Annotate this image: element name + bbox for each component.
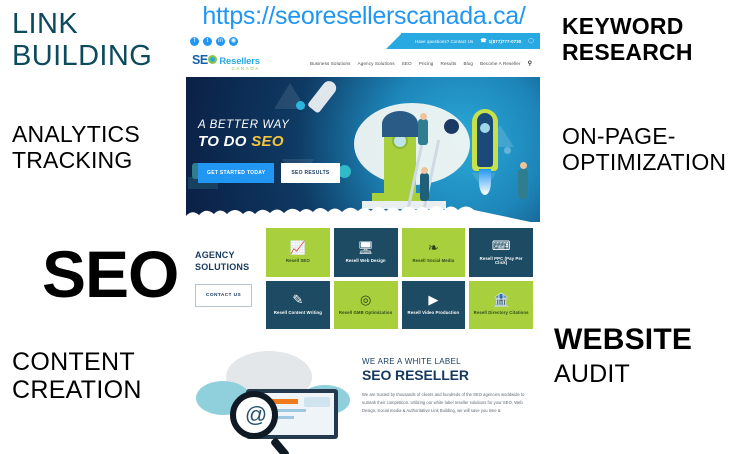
- tile-label: Resell GMB Optimization: [339, 311, 392, 316]
- logo-wordmark: SE Resellers: [192, 54, 260, 67]
- keyword-keyword-research: KEYWORD RESEARCH: [562, 14, 693, 66]
- hero-line-2-plain: TO DO: [198, 133, 251, 150]
- topbar-contact-strip: Have questions? Contact Us ☎ 1(877)777-0…: [401, 33, 540, 49]
- pencil-document-icon: ✎: [292, 293, 303, 306]
- decor-dot-2: [504, 147, 511, 154]
- person-on-ladder: [418, 119, 428, 145]
- hero-rocket-flying-core: [477, 113, 493, 167]
- hero-rocket-flying-flame: [479, 169, 491, 195]
- tile-resell-seo[interactable]: 📈 Resell SEO: [266, 228, 330, 277]
- nav-item-blog[interactable]: Blog: [463, 61, 473, 66]
- search-icon[interactable]: ⚲: [528, 60, 532, 67]
- tile-resell-video-production[interactable]: ▶ Resell Video Production: [402, 281, 466, 330]
- linkedin-icon[interactable]: in: [216, 37, 225, 46]
- tile-resell-social-media[interactable]: ❧ Resell Social Media: [402, 228, 466, 277]
- agency-solutions-section: AGENCY SOLUTIONS CONTACT US 📈 Resell SEO…: [186, 222, 540, 335]
- nav-item-pricing[interactable]: Pricing: [419, 61, 434, 66]
- nav-item-business-solutions[interactable]: Business Solutions: [310, 61, 351, 66]
- hero-line-2: TO DO SEO: [198, 133, 340, 150]
- topbar-phone[interactable]: ☎ 1(877)777-0730: [480, 38, 521, 44]
- tile-resell-gmb-optimization[interactable]: ◎ Resell GMB Optimization: [334, 281, 398, 330]
- keyword-on-page-optimization: ON-PAGE- OPTIMIZATION: [562, 124, 726, 176]
- screenshot-canvas: LINK BUILDING ANALYTICS TRACKING SEO CON…: [0, 0, 736, 454]
- tile-label: Resell Content Writing: [274, 311, 322, 316]
- person-standing: [420, 173, 429, 201]
- keyword-content-creation: CONTENT CREATION: [12, 348, 142, 404]
- magnifier-at-glyph: @: [244, 403, 268, 427]
- hero-banner: A BETTER WAY TO DO SEO GET STARTED TODAY…: [186, 77, 540, 222]
- tile-label: Resell SEO: [286, 259, 310, 264]
- nav-item-seo[interactable]: SEO: [402, 61, 412, 66]
- hero-line-1: A BETTER WAY: [198, 119, 340, 131]
- nav-item-agency-solutions[interactable]: Agency Solutions: [358, 61, 395, 66]
- tile-label: Resell Directory Citations: [474, 311, 529, 316]
- keyword-link-building: LINK BUILDING: [12, 8, 152, 73]
- keyword-audit: AUDIT: [554, 360, 630, 388]
- white-label-illustration: @: [192, 347, 352, 447]
- white-label-title: SEO RESELLER: [362, 367, 530, 383]
- website-screenshot: f t in ◉ Have questions? Contact Us ☎ 1(…: [186, 33, 540, 454]
- map-pin-screen-icon: ◎: [360, 293, 371, 306]
- agency-solutions-title: AGENCY SOLUTIONS: [195, 250, 258, 273]
- facebook-icon[interactable]: f: [190, 37, 199, 46]
- click-cursor-icon: ⌨: [492, 239, 511, 252]
- keyword-analytics-tracking: ANALYTICS TRACKING: [12, 122, 140, 174]
- gear-icon: [444, 119, 459, 134]
- decor-dot-1: [296, 101, 305, 110]
- lightbulb-icon: [338, 165, 351, 178]
- tile-label: Resell Video Production: [408, 311, 460, 316]
- hero-cloud-divider: [186, 204, 540, 222]
- keyword-seo-heading: SEO: [42, 238, 178, 312]
- site-logo[interactable]: SE Resellers CANADA: [192, 54, 260, 72]
- tile-resell-content-writing[interactable]: ✎ Resell Content Writing: [266, 281, 330, 330]
- nav-item-become-a-reseller[interactable]: Become A Reseller: [480, 61, 521, 66]
- hero-copy: A BETTER WAY TO DO SEO GET STARTED TODAY…: [198, 119, 340, 183]
- site-nav: Business Solutions Agency Solutions SEO …: [270, 60, 532, 67]
- magnifier-handle: [270, 437, 290, 454]
- topbar-phone-number: 1(877)777-0730: [489, 39, 522, 44]
- person-right-head: [520, 162, 527, 169]
- phone-icon: ☎: [480, 38, 486, 44]
- seo-results-button[interactable]: SEO RESULTS: [281, 163, 339, 183]
- get-started-today-button[interactable]: GET STARTED TODAY: [198, 163, 274, 183]
- logo-seo-text: SE: [192, 54, 208, 67]
- hero-line-2-accent: SEO: [251, 133, 284, 150]
- logo-country-text: CANADA: [192, 67, 260, 72]
- social-links[interactable]: f t in ◉: [186, 37, 238, 46]
- tile-label: Resell PPC (Pay Per Click): [473, 257, 529, 266]
- keyword-website: WEBSITE: [554, 323, 692, 357]
- hero-rocket-small: [307, 78, 339, 113]
- chart-growth-icon: 📈: [290, 241, 306, 254]
- hero-rocket-main-nose: [382, 111, 418, 137]
- site-header: SE Resellers CANADA Business Solutions A…: [186, 49, 540, 77]
- white-label-section: @ WE ARE A WHITE LABEL SEO RESELLER We a…: [186, 335, 540, 453]
- tile-label: Resell Social Media: [412, 259, 454, 264]
- tablet-screen-logo: [304, 397, 330, 407]
- tile-resell-directory-citations[interactable]: 🏦 Resell Directory Citations: [469, 281, 533, 330]
- instagram-icon[interactable]: ◉: [229, 37, 238, 46]
- hero-rocket-flying-window: [480, 123, 490, 133]
- video-play-icon: ▶: [428, 293, 438, 306]
- share-nodes-icon: ❧: [428, 241, 439, 254]
- agency-solutions-left: AGENCY SOLUTIONS CONTACT US: [192, 250, 258, 307]
- nav-item-results[interactable]: Results: [440, 61, 456, 66]
- user-icon[interactable]: ◯: [528, 38, 534, 44]
- twitter-icon[interactable]: t: [203, 37, 212, 46]
- person-on-ladder-head: [420, 113, 427, 120]
- topbar-contact-text[interactable]: Have questions? Contact Us: [415, 39, 473, 44]
- tile-resell-ppc[interactable]: ⌨ Resell PPC (Pay Per Click): [469, 228, 533, 277]
- white-label-body: We are trusted by thousands of clients a…: [362, 391, 530, 415]
- browser-window-icon: 🖥: [357, 241, 374, 254]
- bank-building-icon: 🏦: [493, 293, 509, 306]
- logo-globe-icon: [208, 55, 217, 64]
- person-right: [518, 169, 528, 199]
- site-url-headline: https://seoresellerscanada.ca/: [186, 2, 542, 31]
- tile-label: Resell Web Design: [346, 259, 386, 264]
- site-top-utility-bar: f t in ◉ Have questions? Contact Us ☎ 1(…: [186, 33, 540, 49]
- contact-us-button[interactable]: CONTACT US: [195, 284, 252, 307]
- tile-resell-web-design[interactable]: 🖥 Resell Web Design: [334, 228, 398, 277]
- hero-buttons: GET STARTED TODAY SEO RESULTS: [198, 163, 340, 183]
- person-standing-head: [421, 167, 428, 174]
- agency-solutions-grid: 📈 Resell SEO 🖥 Resell Web Design ❧ Resel…: [266, 228, 533, 329]
- white-label-copy: WE ARE A WHITE LABEL SEO RESELLER We are…: [362, 347, 530, 415]
- white-label-kicker: WE ARE A WHITE LABEL: [362, 357, 530, 366]
